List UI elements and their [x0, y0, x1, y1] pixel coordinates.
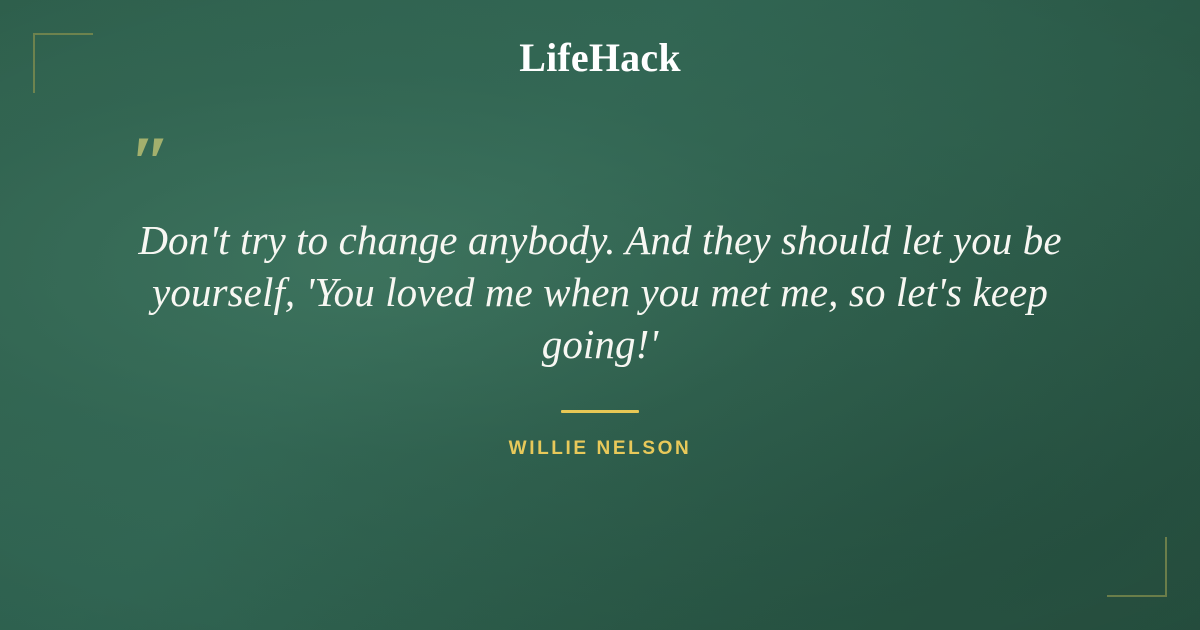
divider — [0, 410, 1200, 413]
brand-logo: LifeHack — [0, 36, 1200, 80]
quote-author: WILLIE NELSON — [0, 438, 1200, 460]
corner-bracket-horizontal-line — [1107, 595, 1167, 597]
quote-body-text: Don't try to change anybody. And they sh… — [130, 214, 1070, 370]
quotation-mark-icon: ″ — [130, 126, 171, 200]
corner-bracket-bottom-right-icon — [1107, 537, 1167, 597]
corner-bracket-horizontal-line — [33, 33, 93, 35]
divider-line — [561, 410, 639, 413]
quote-card: LifeHack ″ Don't try to change anybody. … — [0, 0, 1200, 630]
corner-bracket-vertical-line — [1165, 537, 1167, 597]
